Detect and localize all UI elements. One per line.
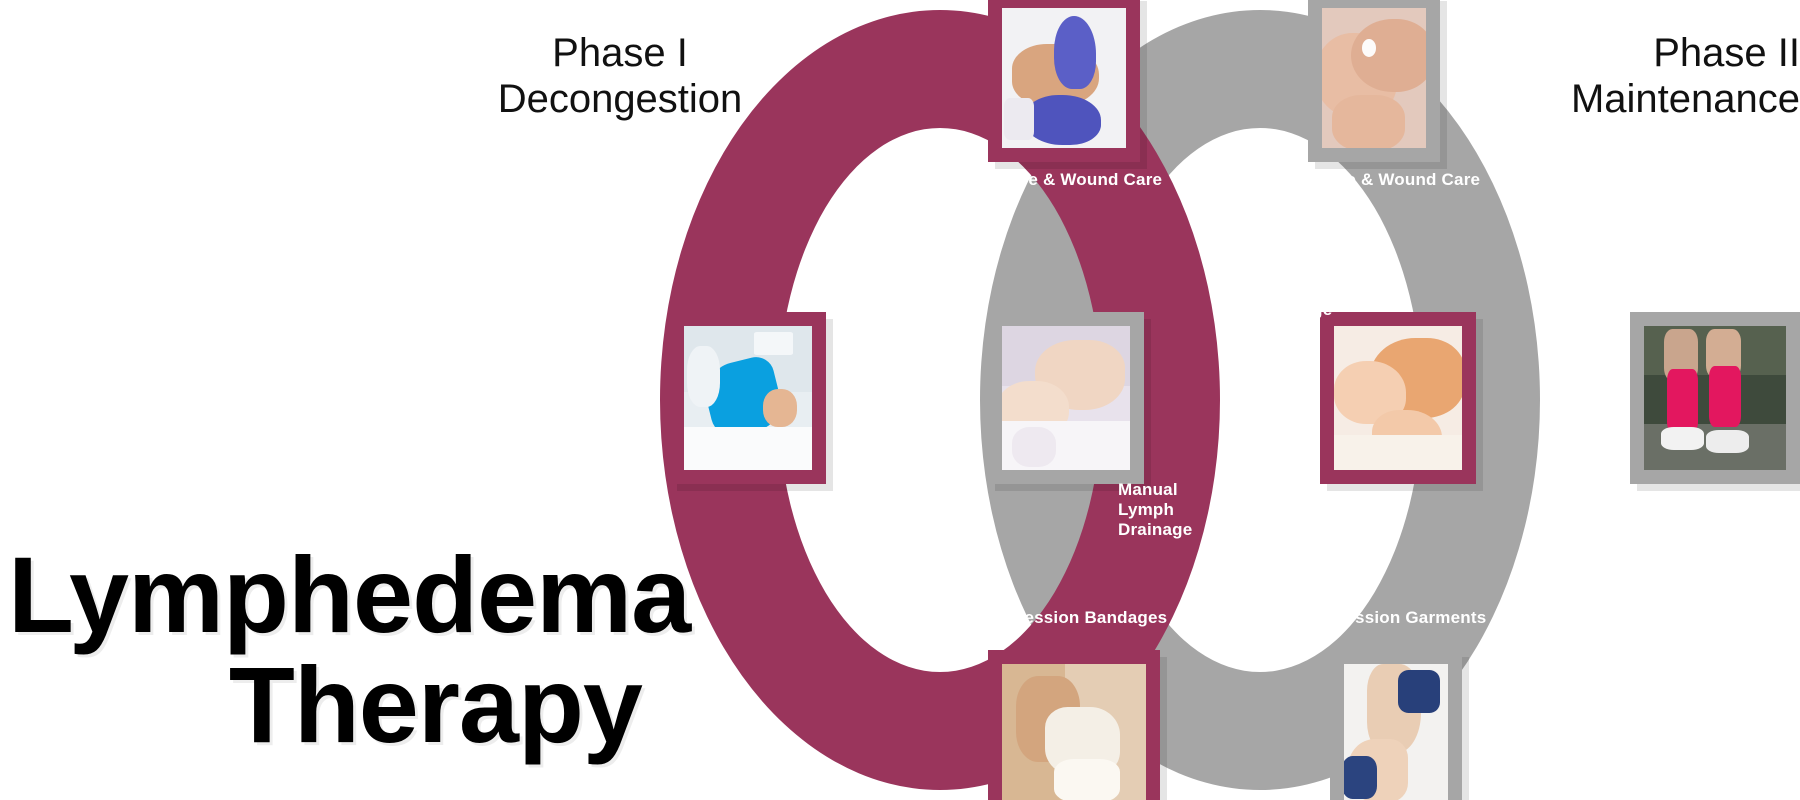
leg-exercise-blue-sleeve-photo — [684, 326, 812, 470]
tile-frame — [1630, 312, 1800, 484]
tile-phase1-manual-lymph-drainage[interactable] — [1320, 312, 1476, 484]
tile-phase2-exercise[interactable] — [1630, 312, 1800, 484]
running-legs-pink-compression-socks-photo — [1644, 326, 1786, 470]
tile-phase1-skin-care[interactable] — [988, 0, 1140, 162]
infographic-canvas: Lymphedema Therapy Phase I Decongestion … — [0, 0, 1800, 800]
tile-frame — [1320, 312, 1476, 484]
tile-phase1-compression[interactable] — [988, 650, 1160, 800]
gloved-hands-skin-care-photo — [1002, 8, 1126, 148]
tile-frame — [1330, 650, 1462, 800]
tile-phase1-exercise[interactable] — [670, 312, 826, 484]
tile-frame — [988, 0, 1140, 162]
label-phase1-compression: Compression Bandages — [938, 608, 1198, 628]
label-phase2-compression: Compression Garments — [1258, 608, 1518, 628]
tile-phase2-skin-care[interactable] — [1308, 0, 1440, 162]
label-phase2-manual-lymph-drainage: Manual Lymph Drainage — [1118, 480, 1258, 540]
page-title-line-2: Therapy — [0, 650, 820, 760]
tile-phase2-manual-lymph-drainage[interactable] — [988, 312, 1144, 484]
label-phase2-exercise: Exercise — [1520, 492, 1660, 512]
label-phase1-exercise: Exercise — [760, 292, 900, 312]
label-phase1-skin-care: Skin Care & Wound Care — [930, 170, 1190, 190]
label-phase2-skin-care: Skin Care & Wound Care — [1248, 170, 1508, 190]
tile-frame — [988, 312, 1144, 484]
label-phase1-manual-lymph-drainage: Manual Lymph Drainage — [1258, 260, 1398, 320]
tile-frame — [988, 650, 1160, 800]
compression-stocking-donning-photo — [1344, 664, 1448, 800]
hand-cream-application-photo — [1322, 8, 1426, 148]
tile-phase2-compression[interactable] — [1330, 650, 1462, 800]
tile-frame — [670, 312, 826, 484]
compression-bandaging-arm-photo — [1002, 664, 1146, 800]
leg-massage-therapy-photo — [1002, 326, 1130, 470]
manual-lymph-drainage-massage-photo — [1334, 326, 1462, 470]
tile-frame — [1308, 0, 1440, 162]
